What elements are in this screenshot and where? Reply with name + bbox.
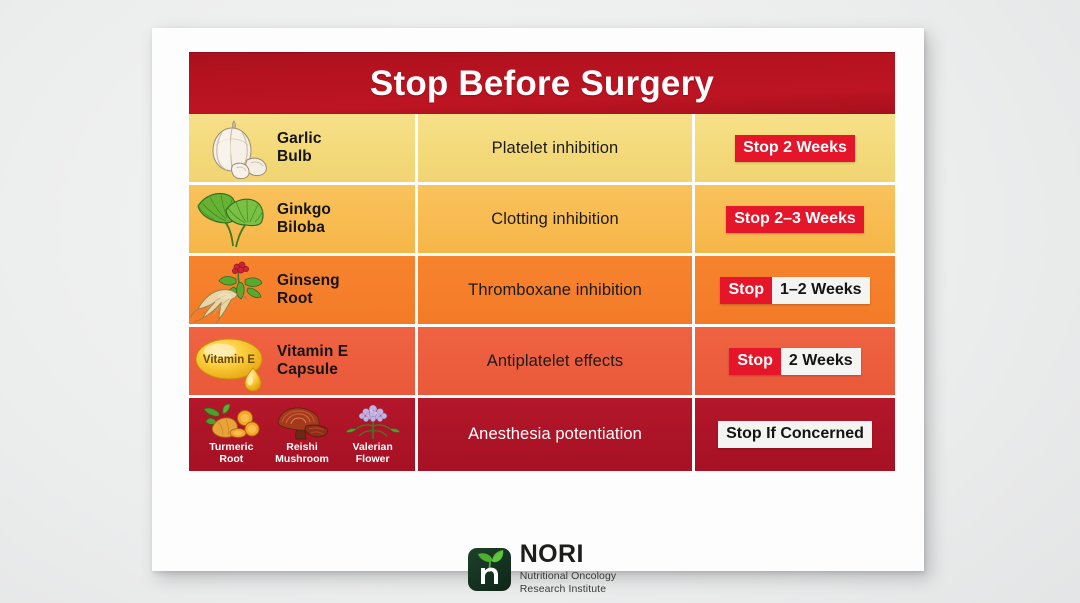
supplement-name-line2: Biloba: [277, 219, 331, 237]
supplement-cell: Garlic Bulb: [189, 114, 418, 182]
supplement-name-line1: Ginseng: [277, 272, 340, 290]
turmeric-root-icon: [201, 404, 261, 440]
footer-logo: NORI Nutritional Oncology Research Insti…: [189, 542, 895, 596]
nori-leaf-n-logo-icon: [468, 548, 511, 591]
badge-red-segment: Stop: [720, 277, 772, 304]
multi-supplement-group: Turmeric Root: [189, 398, 415, 471]
table-row: Vitamin E Vitamin E Capsule Antiplatelet…: [189, 327, 895, 398]
badge-white-segment: Stop If Concerned: [718, 421, 872, 448]
badge-red-segment: Stop 2 Weeks: [735, 135, 855, 162]
supplement-table: Garlic Bulb Platelet inhibition Stop 2 W…: [189, 114, 895, 471]
logo-tagline-line2: Research Institute: [520, 583, 617, 596]
table-row: Garlic Bulb Platelet inhibition Stop 2 W…: [189, 114, 895, 185]
logo-tagline-line1: Nutritional Oncology: [520, 570, 617, 583]
multi-item-label: Turmeric Root: [209, 442, 253, 466]
table-row: Turmeric Root: [189, 398, 895, 471]
multi-item-label-line2: Flower: [353, 454, 393, 466]
table-row: Ginseng Root Thromboxane inhibition Stop…: [189, 256, 895, 327]
ginseng-root-icon: [189, 257, 277, 323]
badge-red-segment: Stop 2–3 Weeks: [726, 206, 864, 233]
effect-cell: Platelet inhibition: [418, 114, 695, 182]
supplement-cell: Vitamin E Vitamin E Capsule: [189, 327, 418, 395]
supplement-name-line1: Vitamin E: [277, 343, 348, 361]
capsule-label-text: Vitamin E: [203, 354, 256, 366]
ginkgo-leaf-icon: [189, 186, 277, 252]
supplement-cell: Turmeric Root: [189, 398, 418, 471]
badge-white-segment: 2 Weeks: [781, 348, 861, 375]
multi-item-label-line2: Mushroom: [275, 454, 329, 466]
list-item: Valerian Flower: [337, 404, 408, 466]
table-row: Ginkgo Biloba Clotting inhibition Stop 2…: [189, 185, 895, 256]
status-badge: Stop 2–3 Weeks: [726, 206, 864, 233]
action-cell: Stop 2 Weeks: [695, 114, 895, 182]
list-item: Turmeric Root: [196, 404, 267, 466]
page-title: Stop Before Surgery: [370, 66, 714, 101]
action-cell: Stop 2 Weeks: [695, 327, 895, 395]
logo-text-block: NORI Nutritional Oncology Research Insti…: [520, 542, 617, 596]
reishi-mushroom-icon: [272, 404, 332, 440]
effect-cell: Anesthesia potentiation: [418, 398, 695, 471]
effect-text: Antiplatelet effects: [487, 352, 624, 371]
supplement-name-line2: Root: [277, 290, 340, 308]
status-badge: Stop 1–2 Weeks: [720, 277, 869, 304]
supplement-name: Vitamin E Capsule: [277, 343, 348, 380]
valerian-flower-icon: [343, 404, 403, 440]
action-cell: Stop 2–3 Weeks: [695, 185, 895, 253]
supplement-name: Ginseng Root: [277, 272, 340, 309]
supplement-cell: Ginkgo Biloba: [189, 185, 418, 253]
vitamin-e-capsule-icon: Vitamin E: [189, 328, 277, 394]
supplement-name-line1: Garlic: [277, 130, 322, 148]
status-badge: Stop 2 Weeks: [735, 135, 855, 162]
supplement-name-line1: Ginkgo: [277, 201, 331, 219]
poster-content: Stop Before Surgery: [189, 52, 895, 512]
supplement-name-line2: Capsule: [277, 361, 348, 379]
effect-text: Clotting inhibition: [491, 210, 619, 229]
effect-text: Anesthesia potentiation: [468, 425, 642, 444]
effect-cell: Clotting inhibition: [418, 185, 695, 253]
badge-red-segment: Stop: [729, 348, 781, 375]
logo-wordmark: NORI: [520, 542, 617, 567]
multi-item-label-line2: Root: [209, 454, 253, 466]
garlic-bulb-icon: [189, 115, 277, 181]
multi-item-label: Reishi Mushroom: [275, 442, 329, 466]
poster-card: Stop Before Surgery: [152, 28, 924, 571]
action-cell: Stop If Concerned: [695, 398, 895, 471]
supplement-name: Ginkgo Biloba: [277, 201, 331, 238]
multi-item-label: Valerian Flower: [353, 442, 393, 466]
effect-text: Thromboxane inhibition: [468, 281, 642, 300]
effect-text: Platelet inhibition: [492, 139, 619, 158]
list-item: Reishi Mushroom: [267, 404, 338, 466]
status-badge: Stop If Concerned: [718, 421, 872, 448]
effect-cell: Thromboxane inhibition: [418, 256, 695, 324]
supplement-cell: Ginseng Root: [189, 256, 418, 324]
badge-white-segment: 1–2 Weeks: [772, 277, 870, 304]
effect-cell: Antiplatelet effects: [418, 327, 695, 395]
status-badge: Stop 2 Weeks: [729, 348, 860, 375]
supplement-name-line2: Bulb: [277, 148, 322, 166]
poster-header: Stop Before Surgery: [189, 52, 895, 114]
supplement-name: Garlic Bulb: [277, 130, 322, 167]
action-cell: Stop 1–2 Weeks: [695, 256, 895, 324]
